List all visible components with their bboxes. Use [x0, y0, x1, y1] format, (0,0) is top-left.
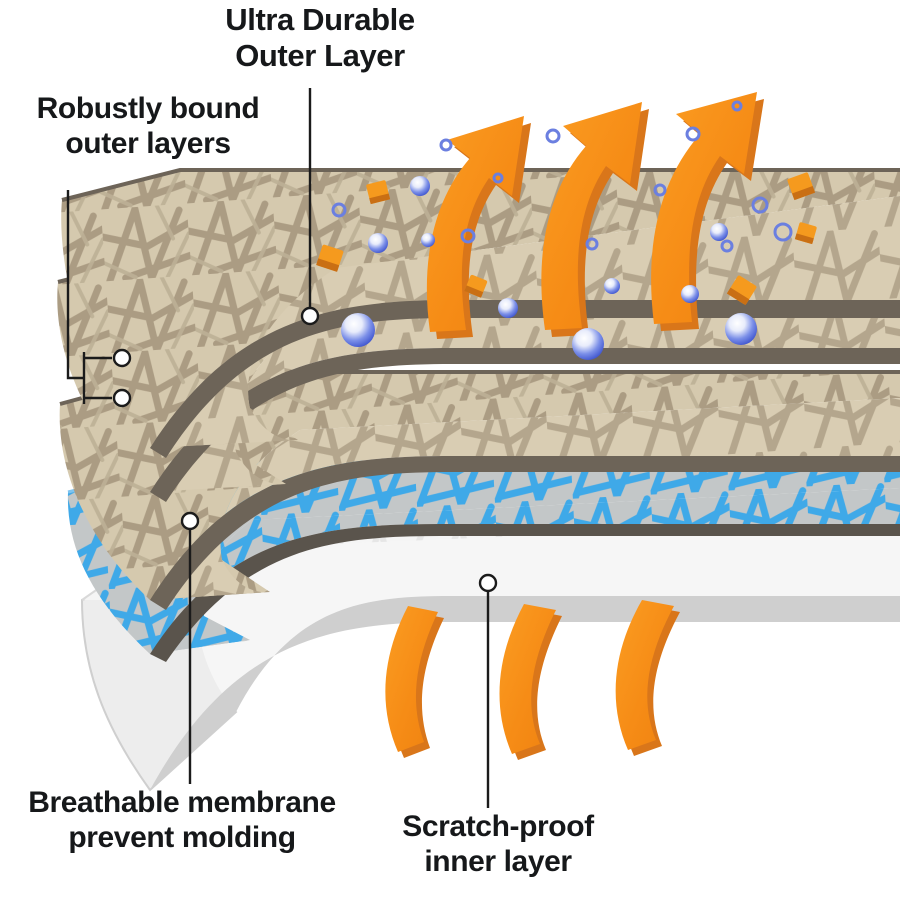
label-breathable-membrane: Breathable membrane prevent molding [2, 786, 362, 856]
leader-ultra-dot [302, 308, 318, 324]
leader-robust-dot-1 [114, 350, 130, 366]
leader-breath-dot [182, 513, 198, 529]
label-scratch-proof-inner-layer: Scratch-proof inner layer [372, 810, 624, 880]
leader-robust-dot-2 [114, 390, 130, 406]
label-ultra-durable-outer-layer: Ultra Durable Outer Layer [186, 2, 454, 74]
arrow-down-3 [616, 600, 680, 756]
arrow-down-1 [385, 606, 444, 758]
infographic-canvas: Ultra Durable Outer Layer Robustly bound… [0, 0, 916, 902]
arrow-down-2 [500, 604, 563, 760]
label-robustly-bound-outer-layers: Robustly bound outer layers [4, 92, 292, 162]
leader-scratch-dot [480, 575, 496, 591]
airflow-arrows-down [385, 600, 680, 760]
